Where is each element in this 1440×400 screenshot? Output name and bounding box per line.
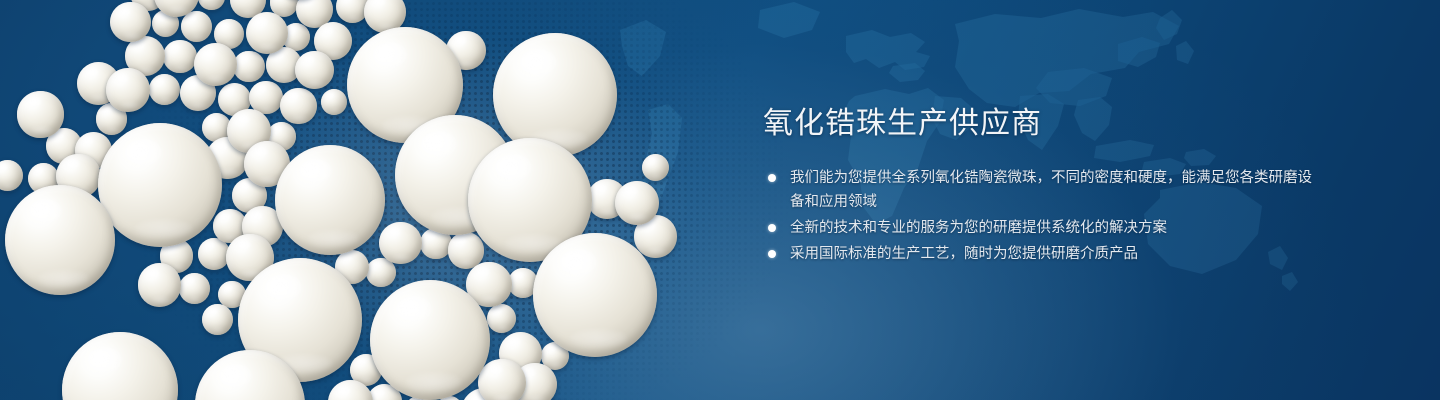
ceramic-bead (110, 2, 150, 42)
ceramic-bead (642, 154, 669, 181)
ceramic-bead (179, 273, 210, 304)
ceramic-bead (5, 185, 115, 295)
ceramic-bead (198, 0, 225, 10)
ceramic-bead (233, 51, 265, 83)
bullet-text: 采用国际标准的生产工艺，随时为您提供研磨介质产品 (790, 246, 1138, 262)
ceramic-bead (280, 88, 317, 125)
bullet-dot-icon (768, 250, 776, 258)
ceramic-bead (17, 91, 63, 137)
ceramic-bead (149, 74, 180, 105)
ceramic-bead (181, 11, 212, 42)
zirconia-beads-cluster (0, 0, 760, 400)
hero-banner: 氧化锆珠生产供应商 我们能为您提供全系列氧化锆陶瓷微珠，不同的密度和硬度，能满足… (0, 0, 1440, 400)
ceramic-bead (138, 263, 182, 307)
ceramic-bead (62, 332, 178, 400)
ceramic-bead (487, 304, 516, 333)
ceramic-bead (275, 145, 385, 255)
list-item: 全新的技术和专业的服务为您的研磨提供系统化的解决方案 (763, 216, 1323, 240)
banner-title: 氧化锆珠生产供应商 (763, 104, 1323, 144)
list-item: 我们能为您提供全系列氧化锆陶瓷微珠，不同的密度和硬度，能满足您各类研磨设备和应用… (763, 166, 1323, 214)
ceramic-bead (194, 43, 237, 86)
ceramic-bead (379, 222, 421, 264)
ceramic-bead (295, 51, 333, 89)
bullet-dot-icon (768, 224, 776, 232)
bullet-dot-icon (768, 174, 776, 182)
ceramic-bead (493, 33, 617, 157)
ceramic-bead (202, 304, 233, 335)
ceramic-bead (533, 233, 657, 357)
banner-bullet-list: 我们能为您提供全系列氧化锆陶瓷微珠，不同的密度和硬度，能满足您各类研磨设备和应用… (763, 166, 1323, 266)
ceramic-bead (370, 280, 490, 400)
ceramic-bead (478, 359, 526, 400)
ceramic-bead (198, 238, 230, 270)
ceramic-bead (615, 181, 659, 225)
ceramic-bead (106, 68, 150, 112)
bullet-text: 全新的技术和专业的服务为您的研磨提供系统化的解决方案 (790, 220, 1167, 236)
ceramic-bead (163, 40, 197, 74)
ceramic-bead (0, 160, 23, 191)
banner-copy: 氧化锆珠生产供应商 我们能为您提供全系列氧化锆陶瓷微珠，不同的密度和硬度，能满足… (763, 104, 1323, 268)
ceramic-bead (98, 123, 222, 247)
list-item: 采用国际标准的生产工艺，随时为您提供研磨介质产品 (763, 242, 1323, 266)
bullet-text: 我们能为您提供全系列氧化锆陶瓷微珠，不同的密度和硬度，能满足您各类研磨设备和应用… (790, 170, 1312, 210)
ceramic-bead (321, 89, 347, 115)
